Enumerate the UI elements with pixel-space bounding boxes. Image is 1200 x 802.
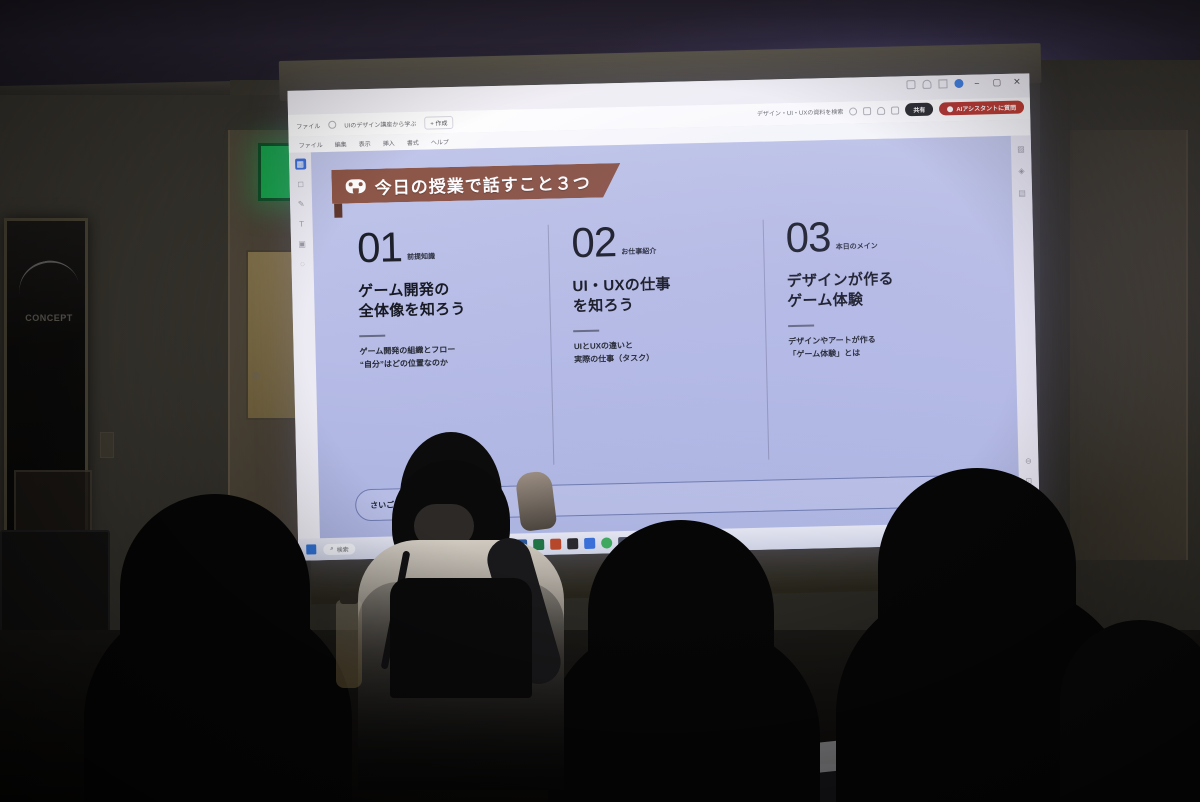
column-subtext: ゲーム開発の組織とフロー “自分”はどの位置なのか — [359, 342, 535, 372]
layers-icon[interactable]: ▤ — [1017, 187, 1027, 197]
subtext-line-2: 「ゲーム体験」とは — [788, 345, 964, 362]
figma-icon[interactable] — [584, 537, 595, 548]
app-toolbar-left: ファイル UIのデザイン講座から学ぶ + 作成 — [296, 115, 453, 132]
headline-line-2: 全体像を知ろう — [358, 298, 534, 323]
zoom-out-icon[interactable]: ⊖ — [1023, 455, 1033, 465]
chrome-icon[interactable] — [601, 537, 612, 548]
column-headline: UI・UXの仕事 を知ろう — [572, 273, 748, 318]
taskbar-search-box[interactable]: ⌕ 検索 — [323, 543, 356, 555]
game-controller-icon — [346, 179, 366, 193]
column-number: 03 — [785, 218, 831, 258]
divider-rule — [359, 335, 385, 338]
image-icon[interactable]: ▣ — [296, 238, 307, 249]
app-toolbar-right: デザイン・UI・UXの資料を検索 共有 AIアシスタントに質問 — [757, 101, 1024, 120]
history-icon[interactable] — [906, 80, 915, 89]
column-number: 01 — [357, 228, 403, 268]
menu-item-edit[interactable]: 編集 — [335, 139, 347, 148]
chair-back — [390, 578, 532, 698]
column-headline: デザインが作る ゲーム体験 — [787, 268, 963, 313]
column-subtext: UIとUXの違いと 実際の仕事（タスク） — [574, 337, 750, 367]
audience-silhouette-3 — [878, 468, 1076, 802]
new-tab-button[interactable]: + 作成 — [424, 115, 453, 129]
extensions-icon[interactable] — [938, 79, 947, 88]
column-kicker: お仕事紹介 — [621, 246, 656, 262]
taskbar-search-placeholder: 検索 — [337, 544, 349, 553]
home-icon[interactable] — [328, 121, 336, 129]
lecture-room-scene: CONCEPT − ▢ ✕ — [0, 0, 1200, 802]
slide-title-banner: 今日の授業で話すこと３つ — [331, 163, 621, 204]
door-right — [1070, 130, 1188, 560]
water-bottle-cap — [340, 592, 358, 604]
menu-item-insert[interactable]: 挿入 — [383, 138, 395, 147]
audience-silhouette-4 — [1060, 620, 1200, 802]
audience-silhouette-1 — [120, 494, 310, 802]
audience-silhouette-2 — [588, 520, 774, 802]
subtext-line-2: 実際の仕事（タスク） — [574, 350, 750, 367]
search-icon[interactable] — [849, 107, 857, 115]
poster-title: CONCEPT — [7, 313, 91, 323]
divider-rule — [573, 330, 599, 333]
text-icon[interactable]: T — [296, 218, 307, 229]
slide-column-03: 03 本日のメイン デザインが作る ゲーム体験 デザインやアートが作る 「ゲーム… — [762, 215, 982, 460]
number-row: 03 本日のメイン — [785, 215, 961, 258]
sparkle-icon — [947, 106, 953, 112]
profile-avatar-icon[interactable] — [954, 79, 963, 88]
search-icon: ⌕ — [330, 545, 334, 552]
number-row: 02 お仕事紹介 — [571, 220, 747, 263]
poster-arc-decoration — [14, 255, 80, 301]
share-button[interactable]: 共有 — [905, 103, 933, 117]
comment-icon[interactable] — [877, 106, 885, 114]
divider-rule — [788, 325, 814, 328]
slide-columns: 01 前提知識 ゲーム開発の 全体像を知ろう ゲーム開発の組織とフロー “自分”… — [357, 215, 982, 470]
wall-frame-lower — [14, 470, 92, 536]
slides-panel-icon[interactable]: ▦ — [295, 158, 306, 169]
light-switch-plate — [100, 432, 114, 458]
minimize-button[interactable]: − — [970, 78, 983, 88]
ai-assistant-button[interactable]: AIアシスタントに質問 — [939, 101, 1024, 116]
menu-item-format[interactable]: 書式 — [407, 137, 419, 146]
banner-body: 今日の授業で話すこと３つ — [331, 163, 621, 204]
powerpoint-icon[interactable] — [550, 538, 561, 549]
column-kicker: 前提知識 — [407, 251, 435, 267]
toolbar-file-label[interactable]: ファイル — [296, 121, 320, 131]
slide-column-02: 02 お仕事紹介 UI・UXの仕事 を知ろう UIとUXの違いと 実際の仕事（タ… — [548, 220, 768, 465]
close-button[interactable]: ✕ — [1010, 77, 1023, 88]
menu-item-file[interactable]: ファイル — [299, 140, 323, 150]
column-subtext: デザインやアートが作る 「ゲーム体験」とは — [788, 332, 964, 362]
column-kicker: 本日のメイン — [836, 241, 878, 257]
banner-tail-decoration — [334, 204, 342, 218]
number-row: 01 前提知識 — [357, 225, 533, 268]
search-input[interactable]: デザイン・UI・UXの資料を検索 — [757, 107, 844, 118]
comment-icon[interactable]: ◌ — [297, 258, 308, 269]
shapes-icon[interactable]: ◻ — [295, 178, 306, 189]
design-icon[interactable]: ▨ — [1016, 143, 1026, 153]
share-icon[interactable] — [863, 107, 871, 115]
document-title[interactable]: UIのデザイン講座から学ぶ — [344, 118, 416, 129]
titlebar-right-group: − ▢ ✕ — [906, 77, 1023, 91]
water-bottle — [336, 600, 362, 688]
headline-line-2: を知ろう — [573, 293, 749, 318]
maximize-button[interactable]: ▢ — [990, 77, 1003, 88]
headline-line-2: ゲーム体験 — [787, 288, 963, 313]
notes-icon[interactable] — [567, 538, 578, 549]
present-icon[interactable] — [891, 106, 899, 114]
menu-item-help[interactable]: ヘルプ — [431, 137, 449, 146]
subtext-line-2: “自分”はどの位置なのか — [360, 355, 536, 372]
pen-icon[interactable]: ✎ — [295, 198, 306, 209]
ai-assistant-label: AIアシスタントに質問 — [956, 103, 1016, 113]
column-number: 02 — [571, 223, 617, 263]
door-knob — [252, 372, 260, 380]
theme-icon[interactable]: ◈ — [1016, 165, 1026, 175]
menu-item-view[interactable]: 表示 — [359, 138, 371, 147]
slide-title: 今日の授業で話すこと３つ — [374, 168, 591, 198]
column-headline: ゲーム開発の 全体像を知ろう — [358, 278, 534, 323]
bell-icon[interactable] — [922, 80, 931, 89]
start-button[interactable] — [306, 544, 316, 554]
